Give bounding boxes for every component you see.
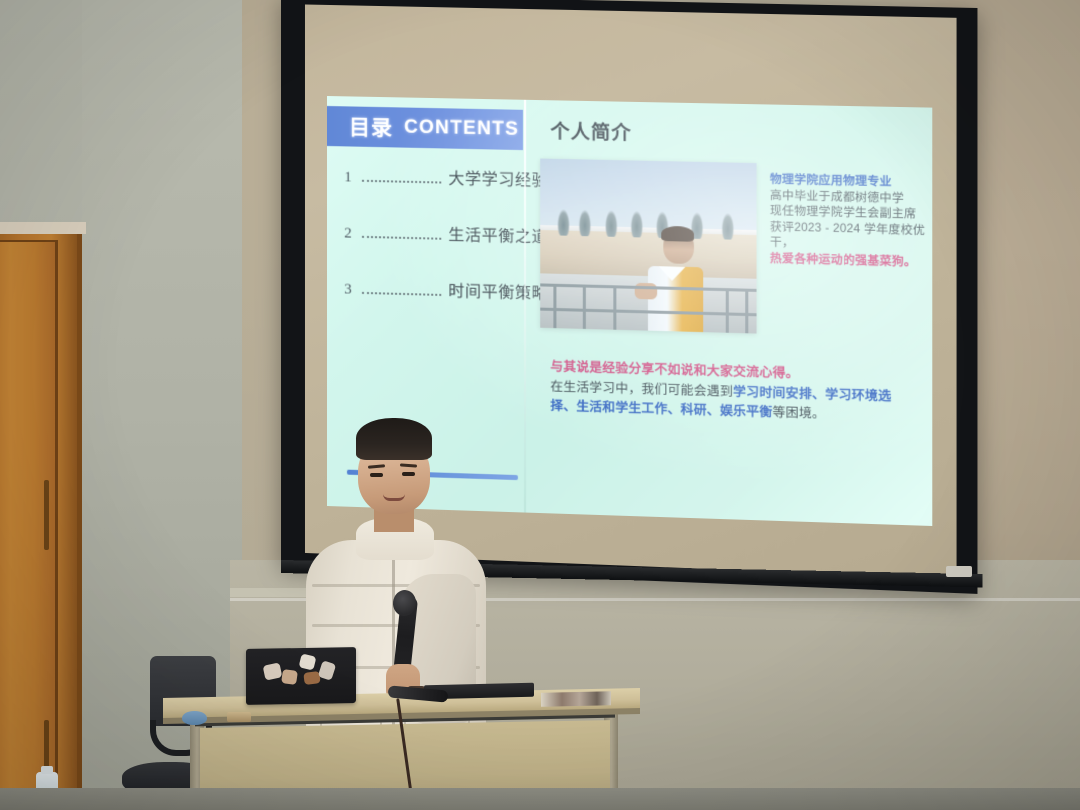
toc-item-label: 生活平衡之道 bbox=[448, 221, 548, 248]
toc-item-label: 时间平衡策略 bbox=[448, 277, 548, 304]
slide-paragraph: 与其说是经验分享不如说和大家交流心得。 在生活学习中，我们可能会遇到学习时间安排… bbox=[550, 357, 919, 427]
toc-item-1[interactable]: 1 大学学习经验 bbox=[341, 162, 548, 223]
door-top-trim bbox=[0, 222, 86, 234]
speaker-hair bbox=[356, 418, 432, 460]
toc-item-number: 2 bbox=[341, 225, 355, 242]
photo-tree bbox=[722, 213, 734, 240]
toc-leader-dots bbox=[362, 236, 441, 240]
paragraph-line-2-highlight: 学习时间安排、学习环境选 bbox=[733, 384, 891, 403]
papers-on-desk[interactable] bbox=[541, 691, 611, 707]
speaker-mouth bbox=[383, 494, 405, 501]
laptop-sticker bbox=[281, 669, 298, 685]
toc-header-en: CONTENTS bbox=[404, 117, 519, 141]
photo-tree bbox=[579, 210, 591, 237]
toc-leader-dots bbox=[362, 180, 441, 184]
paragraph-line-3-highlight: 择、生活和学生工作、科研、娱乐平衡 bbox=[550, 399, 772, 420]
toc-list: 1 大学学习经验 2 生活平衡之道 3 时间平衡策略 bbox=[341, 162, 548, 336]
paragraph-line-2-pre: 在生活学习中，我们可能会遇到 bbox=[550, 379, 733, 398]
photo-tree bbox=[605, 211, 617, 238]
photo-person-hair bbox=[661, 226, 694, 242]
toc-item-number: 3 bbox=[341, 281, 355, 298]
speaker-eye-right bbox=[402, 472, 415, 476]
photo-rail-post bbox=[746, 289, 749, 333]
bio-line-hobby: 热爱各种运动的强基菜狗。 bbox=[770, 250, 932, 270]
toc-item-3[interactable]: 3 时间平衡策略 bbox=[341, 274, 548, 336]
projection-screen-roller-end bbox=[946, 566, 972, 577]
desk-eraser bbox=[227, 712, 251, 722]
toc-item-label: 大学学习经验 bbox=[448, 165, 548, 191]
profile-photo bbox=[540, 159, 756, 334]
paragraph-line-3-post: 等困境。 bbox=[772, 405, 825, 421]
room-scene: 目录 CONTENTS 1 大学学习经验 2 生活平衡之道 3 时间平衡策略 个… bbox=[0, 0, 1080, 810]
photo-rail-post bbox=[726, 288, 729, 332]
water-bottle-cap bbox=[41, 766, 53, 774]
door-leaf[interactable] bbox=[0, 240, 58, 810]
toc-header-cn: 目录 bbox=[349, 111, 393, 142]
paragraph-line-1: 与其说是经验分享不如说和大家交流心得。 bbox=[550, 359, 798, 380]
photo-tree bbox=[631, 211, 643, 238]
slide-section-title: 个人简介 bbox=[550, 116, 631, 145]
photo-tree bbox=[557, 210, 569, 236]
door-hinge-upper bbox=[44, 480, 49, 550]
computer-mouse[interactable] bbox=[182, 711, 207, 725]
toc-item-number: 1 bbox=[341, 169, 355, 186]
photo-rail-post bbox=[553, 284, 556, 328]
bio-text-block: 物理学院应用物理专业 高中毕业于成都树德中学 现任物理学院学生会副主席 获评20… bbox=[770, 172, 932, 271]
floor bbox=[0, 788, 1080, 810]
photo-rail-post bbox=[613, 286, 616, 330]
bio-line-award: 获评2023 - 2024 学年度校优干， bbox=[770, 219, 932, 255]
toc-header-bar: 目录 CONTENTS bbox=[327, 106, 523, 150]
speaker-eye-left bbox=[370, 473, 383, 477]
toc-leader-dots bbox=[362, 292, 441, 296]
toc-item-2[interactable]: 2 生活平衡之道 bbox=[341, 218, 548, 279]
slide-column-divider bbox=[524, 100, 526, 513]
photo-rail-post bbox=[583, 285, 586, 329]
